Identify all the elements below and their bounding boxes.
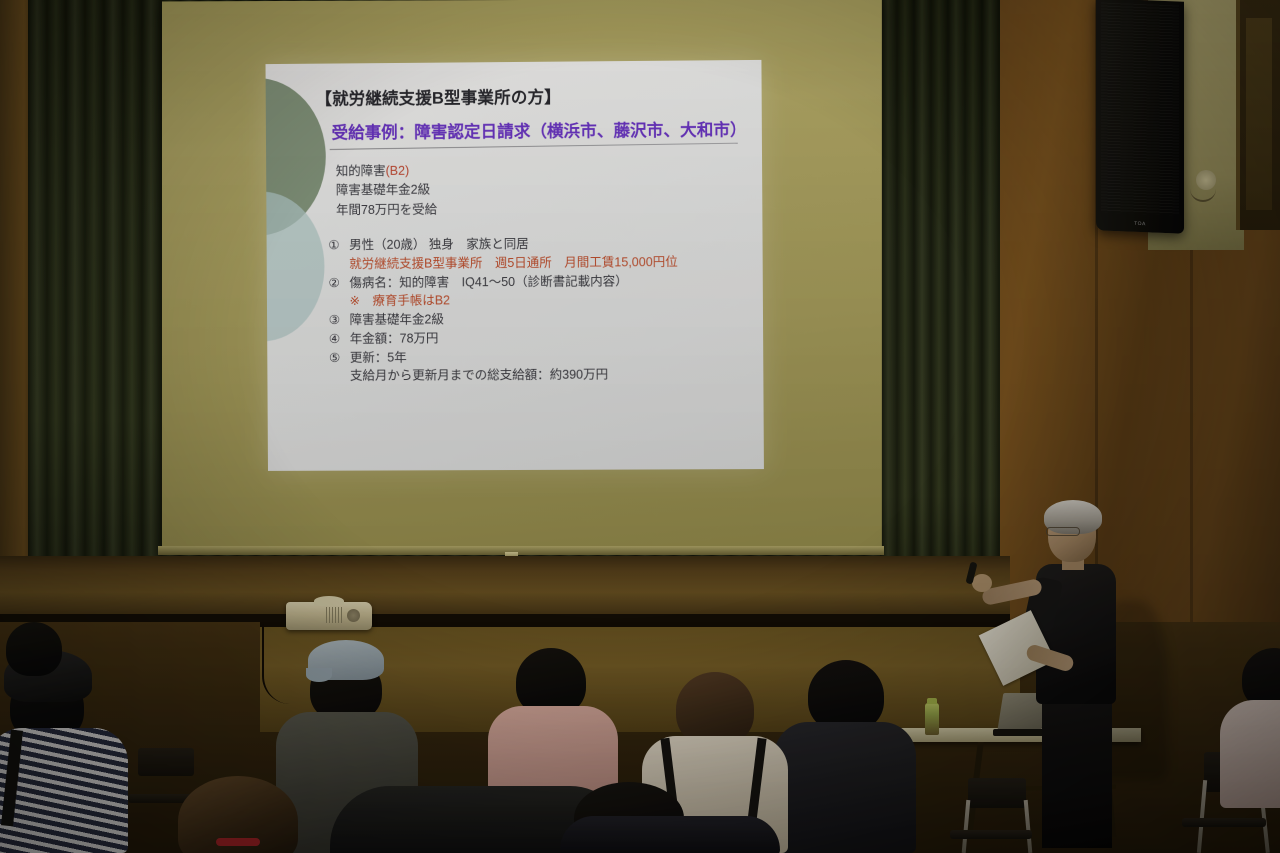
speaker-brand-label: TOA — [1096, 219, 1184, 228]
water-bottle-cap — [927, 698, 937, 704]
pa-speaker: TOA — [1096, 0, 1184, 234]
stage-curtain-right — [880, 0, 1010, 620]
projector-vent — [326, 607, 342, 623]
summary-line: 年間78万円を受給 — [336, 198, 746, 220]
slide-title: 【就労継続支援B型事業所の方】 — [315, 82, 745, 109]
audience-member — [770, 660, 920, 853]
list-item: ③ 障害基礎年金2級 — [329, 309, 747, 330]
audience-member — [560, 790, 780, 853]
seminar-room-photo: TOA 【就労継続支援B型事業所の方】 受給事例：障害認定日請求（横浜市、藤沢市… — [0, 0, 1280, 853]
list-item: ② 傷病名：知的障害 IQ41〜50（診断書記載内容） ※ 療育手帳はB2 — [328, 271, 746, 311]
projection-screen: 【就労継続支援B型事業所の方】 受給事例：障害認定日請求（横浜市、藤沢市、大和市… — [160, 0, 880, 556]
audience-head — [6, 622, 62, 676]
list-item-number: ④ — [329, 330, 344, 349]
audience-member — [150, 776, 340, 853]
audience-head — [676, 672, 754, 746]
slide-summary-block: 知的障害(B2) 障害基礎年金2級 年間78万円を受給 — [336, 159, 747, 220]
cap-brim — [306, 668, 332, 682]
slide-subtitle: 受給事例：障害認定日請求（横浜市、藤沢市、大和市） — [332, 116, 746, 143]
summary-line-text: 知的障害 — [336, 164, 386, 178]
list-item: ① 男性（20歳） 独身 家族と同居 就労継続支援B型事業所 週5日通所 月間工… — [328, 234, 746, 274]
summary-line-suffix: (B2) — [386, 164, 410, 178]
projector-dome — [314, 596, 344, 606]
list-item-text: 更新：5年 — [350, 348, 407, 367]
list-item-text: 傷病名：知的障害 IQ41〜50（診断書記載内容） — [349, 272, 627, 292]
summary-line-text: 年間78万円を受給 — [336, 202, 437, 217]
list-item-text: 男性（20歳） 独身 家族と同居 — [349, 235, 529, 255]
list-item: ⑤ 更新：5年 支給月から更新月までの総支給額：約390万円 — [329, 346, 747, 386]
list-item-number: ⑤ — [329, 349, 344, 368]
list-item-subtext: 就労継続支援B型事業所 週5日通所 月間工賃15,000円位 — [349, 252, 746, 273]
presenter-hand — [972, 574, 992, 592]
audience-body — [774, 722, 916, 853]
presenter-legs — [1042, 698, 1112, 848]
summary-line-text: 障害基礎年金2級 — [336, 183, 430, 198]
projected-slide: 【就労継続支援B型事業所の方】 受給事例：障害認定日請求（横浜市、藤沢市、大和市… — [266, 60, 764, 471]
audience-member — [0, 622, 70, 692]
list-item-number: ② — [328, 274, 343, 293]
slide-enumerated-list: ① 男性（20歳） 独身 家族と同居 就労継続支援B型事業所 週5日通所 月間工… — [328, 234, 747, 386]
slide-divider-rule — [330, 143, 738, 150]
audience-member — [1220, 648, 1280, 808]
audience-body — [560, 816, 780, 853]
folding-chair — [948, 778, 1040, 853]
list-item-text: 年金額：78万円 — [350, 329, 439, 348]
list-item-number: ① — [328, 236, 343, 255]
list-item-number: ③ — [329, 311, 344, 330]
projector-lens-icon — [347, 609, 360, 622]
list-item-text: 障害基礎年金2級 — [350, 311, 444, 330]
list-item-subtext: ※ 療育手帳はB2 — [349, 290, 746, 311]
screen-bottom-bar — [158, 546, 884, 555]
speaker-grill — [1101, 3, 1179, 216]
water-bottle — [925, 703, 939, 735]
audience-body — [1220, 700, 1280, 808]
slide-content: 【就労継続支援B型事業所の方】 受給事例：障害認定日請求（横浜市、藤沢市、大和市… — [266, 60, 764, 471]
wall-framed-panel — [1236, 0, 1280, 230]
stage-front-face — [0, 556, 1010, 622]
list-item-subtext: 支給月から更新月までの総支給額：約390万円 — [350, 365, 747, 386]
eyeglasses-icon — [1046, 527, 1080, 536]
hair-tie — [216, 838, 260, 846]
list-item: ④ 年金額：78万円 — [329, 328, 747, 349]
